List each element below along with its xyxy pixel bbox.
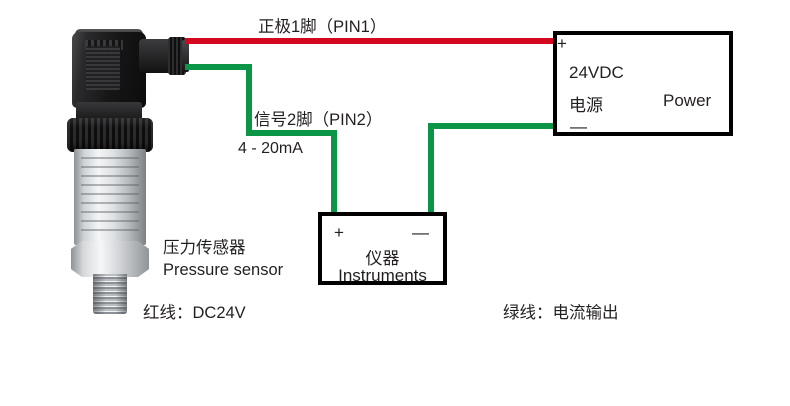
- instrument-positive-terminal-label: +: [334, 224, 344, 241]
- green-wire-power-negative-to-instrument-negative: [428, 123, 434, 215]
- legend-green-wire: 绿线：电流输出: [503, 303, 619, 324]
- red-wire-pin1-to-power-positive: [185, 38, 557, 44]
- power-positive-terminal-label: +: [557, 35, 567, 52]
- sensor-thread-shading: [93, 274, 127, 314]
- instrument-negative-terminal-label: —: [412, 224, 429, 241]
- green-wire-pin2-vertical-segment: [246, 64, 252, 136]
- signal-range-label: 4 - 20mA: [238, 139, 303, 159]
- wiring-diagram-canvas: + 24VDC 电源 Power — + — 仪器 Instruments 正极…: [0, 0, 790, 406]
- sensor-name-cn-label: 压力传感器: [163, 238, 246, 259]
- power-voltage-label: 24VDC: [569, 63, 624, 83]
- power-supply-box: + 24VDC 电源 Power —: [553, 31, 733, 136]
- sensor-laser-etched-spec-text: [81, 157, 139, 235]
- green-wire-pin2-horizontal-segment: [185, 64, 252, 70]
- pin2-wire-label: 信号2脚（PIN2）: [254, 110, 382, 131]
- sensor-name-en-label: Pressure sensor: [163, 260, 283, 281]
- green-wire-power-negative-horizontal: [428, 123, 558, 129]
- legend-red-wire: 红线：DC24V: [143, 303, 246, 324]
- sensor-knurled-ring-nut: [67, 118, 153, 152]
- instrument-box: + — 仪器 Instruments: [318, 212, 447, 285]
- sensor-hex-nut: [71, 241, 149, 277]
- power-name-cn-label: 电源: [569, 91, 603, 116]
- green-wire-pin2-to-instrument-positive: [331, 130, 337, 215]
- green-wire-pin2-horizontal-segment-2: [246, 130, 337, 136]
- power-negative-terminal-label: —: [570, 118, 587, 135]
- din-connector-ribs: [86, 46, 120, 90]
- pin1-wire-label: 正极1脚（PIN1）: [258, 17, 386, 38]
- instrument-name-en-label: Instruments: [322, 266, 443, 286]
- power-name-en-label: Power: [663, 91, 711, 111]
